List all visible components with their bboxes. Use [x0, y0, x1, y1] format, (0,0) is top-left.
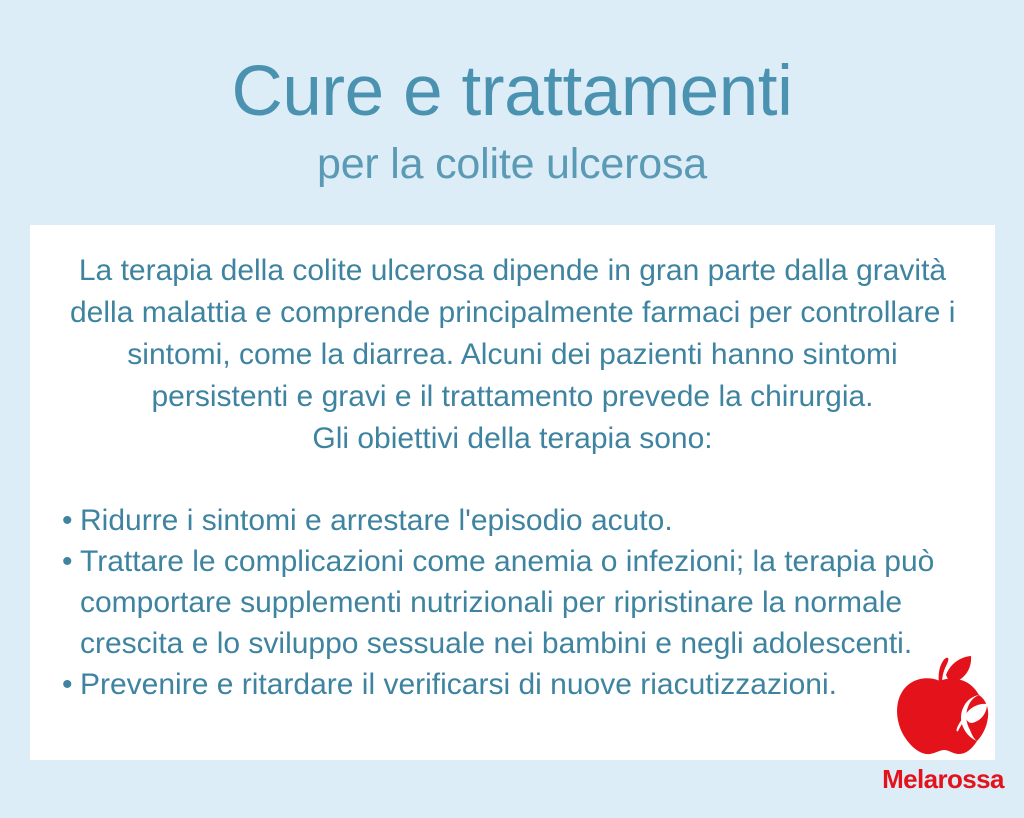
intro-line: persistenti e gravi e il trattamento pre… [70, 376, 955, 418]
list-item-line: comportare supplementi nutrizionali per … [80, 582, 960, 623]
intro-line: Gli obiettivi della terapia sono: [70, 418, 955, 460]
list-item: • Prevenire e ritardare il verificarsi d… [60, 664, 960, 705]
objectives-list: • Ridurre i sintomi e arrestare l'episod… [60, 500, 960, 705]
bullet-marker-icon: • [62, 541, 73, 582]
infographic-card: Cure e trattamenti per la colite ulceros… [0, 0, 1024, 818]
bitten-apple-icon [886, 655, 998, 763]
bullet-marker-icon: • [62, 664, 73, 705]
list-item: • Ridurre i sintomi e arrestare l'episod… [60, 500, 960, 541]
page-subtitle: per la colite ulcerosa [0, 138, 1024, 190]
list-item-line: crescita e lo sviluppo sessuale nei bamb… [80, 623, 960, 664]
page-title: Cure e trattamenti [0, 52, 1024, 132]
brand-wordmark: Melarossa [878, 763, 1008, 795]
list-item-line: Prevenire e ritardare il verificarsi di … [80, 664, 960, 705]
list-item: • Trattare le complicazioni come anemia … [60, 541, 960, 664]
list-item-line: Trattare le complicazioni come anemia o … [80, 541, 960, 582]
intro-line: La terapia della colite ulcerosa dipende… [70, 250, 955, 292]
list-item-line: Ridurre i sintomi e arrestare l'episodio… [80, 500, 960, 541]
list-item-text: Ridurre i sintomi e arrestare l'episodio… [80, 500, 960, 541]
list-item-text: Trattare le complicazioni come anemia o … [80, 541, 960, 664]
header: Cure e trattamenti per la colite ulceros… [0, 0, 1024, 225]
list-item-text: Prevenire e ritardare il verificarsi di … [80, 664, 960, 705]
intro-line: sintomi, come la diarrea. Alcuni dei paz… [70, 334, 955, 376]
bullet-marker-icon: • [62, 500, 73, 541]
brand-logo: Melarossa [878, 655, 1008, 810]
intro-paragraph: La terapia della colite ulcerosa dipende… [70, 250, 955, 460]
intro-line: della malattia e comprende principalment… [70, 292, 955, 334]
content-card: La terapia della colite ulcerosa dipende… [30, 225, 995, 760]
